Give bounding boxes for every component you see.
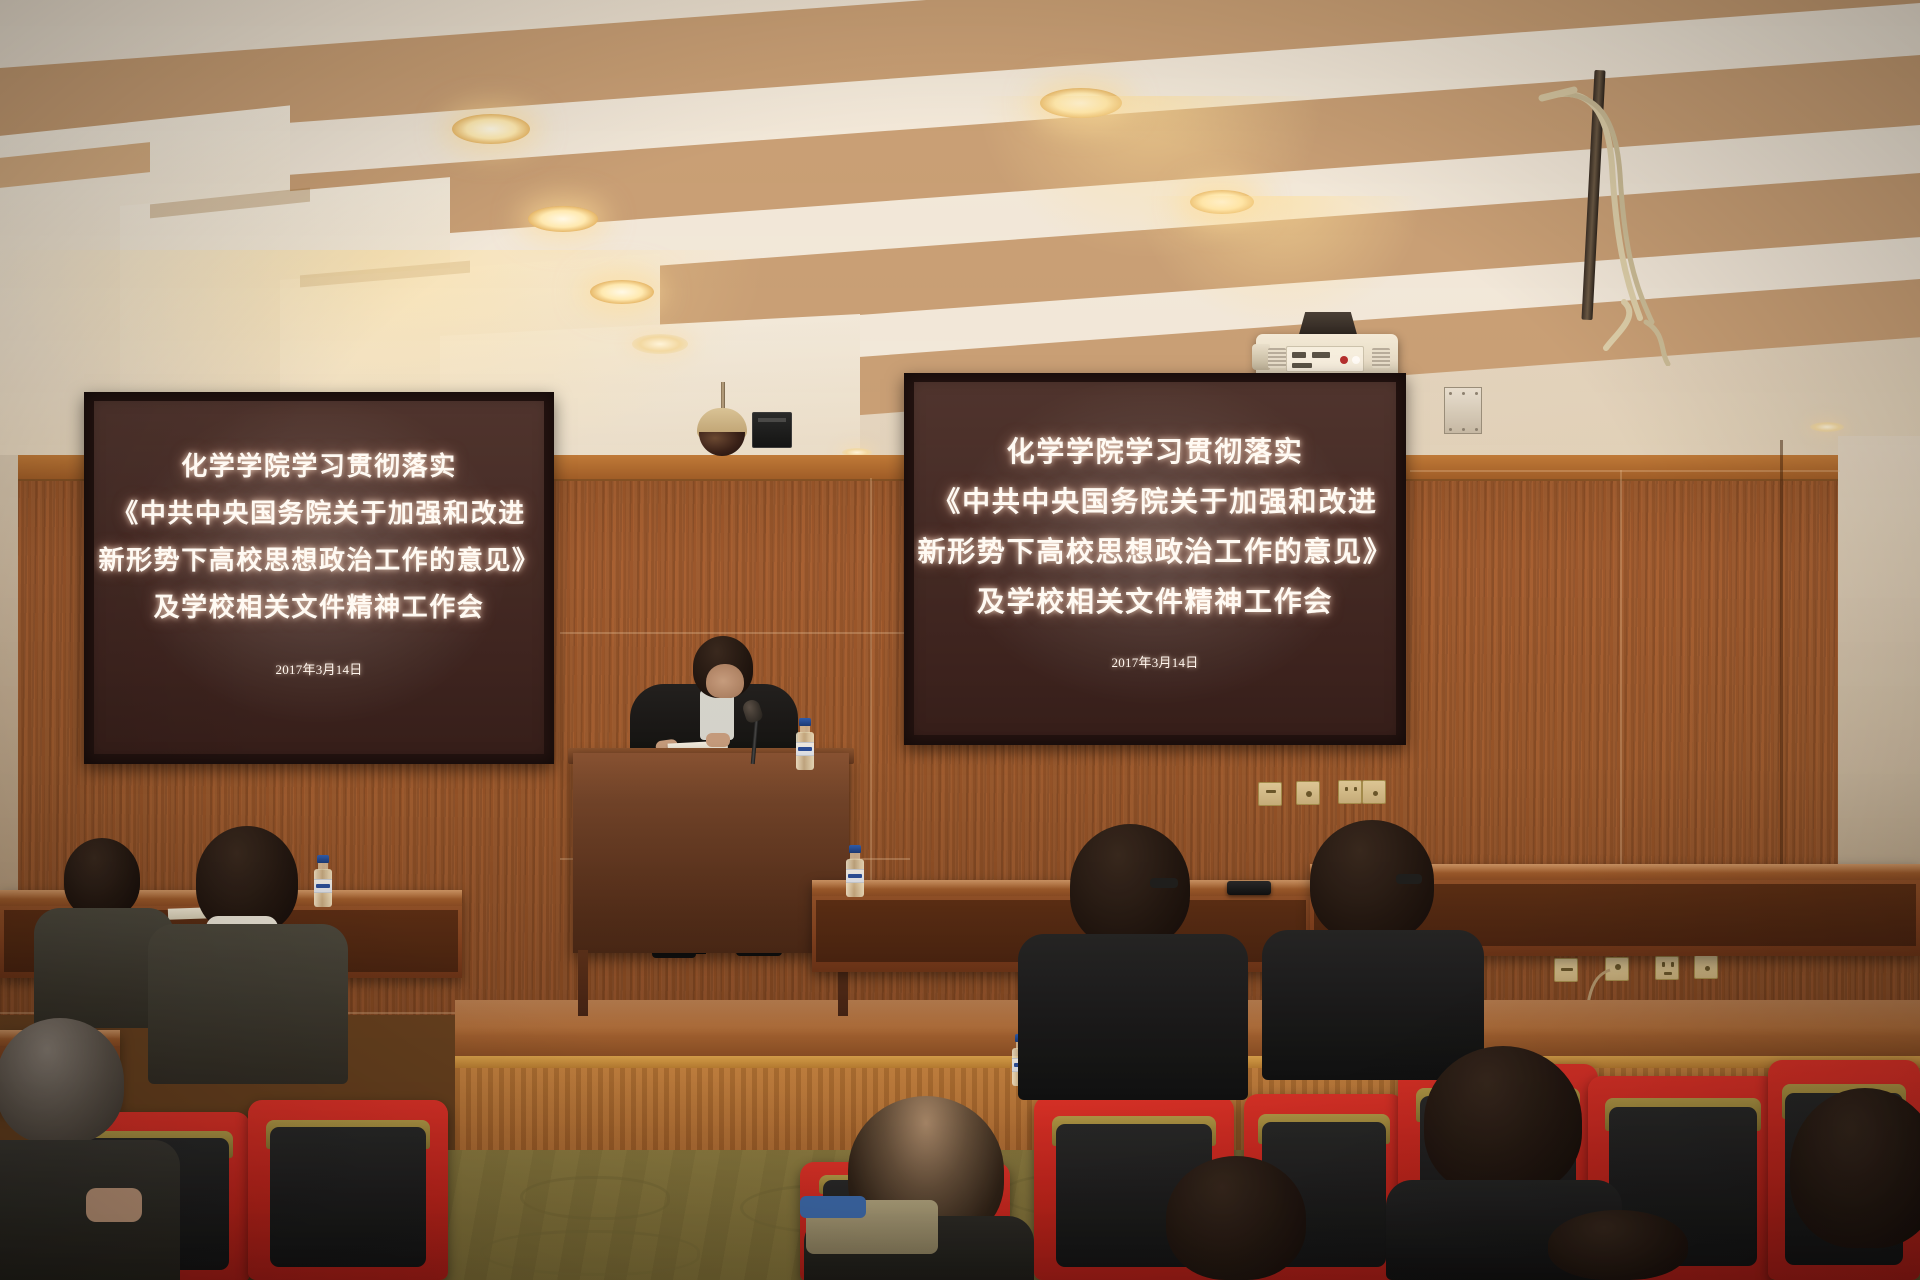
audience-head-8 [1424,1046,1582,1196]
wall-speaker [752,412,792,448]
mobile-phone-on-table [1227,881,1271,895]
projector-port-1 [1292,352,1306,358]
audience-head-1 [64,838,140,918]
audience-torso-7 [1262,930,1484,1080]
wall-plate-right-4 [1694,955,1718,979]
glasses-icon-7 [1396,874,1422,884]
audience-hand-3 [86,1188,142,1222]
wall-plate-right-upper-3 [1338,780,1362,804]
projection-screen-left-surface: 化学学院学习贯彻落实 《中共中央国务院关于加强和改进 新形势下高校思想政治工作的… [94,401,544,754]
projection-screen-right-surface: 化学学院学习贯彻落实 《中共中央国务院关于加强和改进 新形势下高校思想政治工作的… [914,382,1396,735]
downlight-1 [452,114,530,144]
wall-plate-right-upper-1 [1258,782,1282,806]
wall-plate-right-1 [1554,958,1578,982]
left-plaster-edge [0,455,18,925]
audience-torso-5 [1018,934,1248,1100]
speaker-face [706,664,744,698]
slide-line-2: 《中共中央国务院关于加强和改进 [94,490,544,537]
downlight-3 [590,280,654,304]
camera-mount-rod [721,382,725,410]
downlight-4 [632,334,688,354]
wall-panel-seam-h3 [1410,470,1840,472]
slide-line-4: 及学校相关文件精神工作会 [914,578,1396,628]
audience-head-3 [0,1018,124,1144]
audience-head-10 [1548,1210,1688,1280]
projection-screen-right[interactable]: 化学学院学习贯彻落实 《中共中央国务院关于加强和改进 新形势下高校思想政治工作的… [904,373,1406,745]
slide-line-3: 新形势下高校思想政治工作的意见》 [94,537,544,584]
audience-head-6 [1166,1156,1306,1280]
chair-left-2 [248,1100,448,1280]
audience-torso-2 [148,924,348,1084]
wall-equipment-box [1444,387,1482,434]
projector-port-audio-l [1352,356,1360,364]
wall-plate-right-upper-4 [1362,780,1386,804]
projector-cables [1520,66,1780,366]
slide-line-1: 化学学院学习贯彻落实 [94,443,544,490]
projector-port-2 [1312,352,1330,358]
slide-line-2: 《中共中央国务院关于加强和改进 [914,478,1396,528]
glasses-icon-5 [1150,878,1178,888]
projection-screen-left[interactable]: 化学学院学习贯彻落实 《中共中央国务院关于加强和改进 新形势下高校思想政治工作的… [84,392,554,764]
downlight-band-5 [1810,422,1844,432]
wall-panel-seam-h1 [560,632,910,634]
wall-panel-seam-v3 [1780,440,1783,910]
downlight-6 [1190,190,1254,214]
wall-panel-seam-v1 [870,478,872,898]
wall-plate-right-upper-2 [1296,781,1320,805]
slide-line-4: 及学校相关文件精神工作会 [94,584,544,631]
podium-leg-left [578,950,588,1016]
slide-line-3: 新形势下高校思想政治工作的意见》 [914,528,1396,578]
downlight-2 [528,206,598,232]
projector-vent-right [1372,348,1390,368]
right-plaster-column [1838,436,1920,906]
audience-scarf-4 [800,1196,866,1218]
speaker-podium[interactable] [573,753,849,953]
slide-date-left: 2017年3月14日 [275,659,362,678]
slide-date-right: 2017年3月14日 [1111,652,1198,671]
slide-line-1: 化学学院学习贯彻落实 [914,428,1396,478]
downlight-5 [1040,88,1122,118]
projector-port-3 [1292,363,1312,368]
projector-vent-left [1268,348,1286,368]
slide-text-block-right: 化学学院学习贯彻落实 《中共中央国务院关于加强和改进 新形势下高校思想政治工作的… [914,382,1396,628]
speaker-hand-right [706,733,730,747]
slide-text-block-left: 化学学院学习贯彻落实 《中共中央国务院关于加强和改进 新形势下高校思想政治工作的… [94,401,544,631]
conference-hall-photo: 化学学院学习贯彻落实 《中共中央国务院关于加强和改进 新形势下高校思想政治工作的… [0,0,1920,1280]
projector-port-audio-r [1340,356,1348,364]
wall-panel-seam-v2 [1620,470,1622,890]
